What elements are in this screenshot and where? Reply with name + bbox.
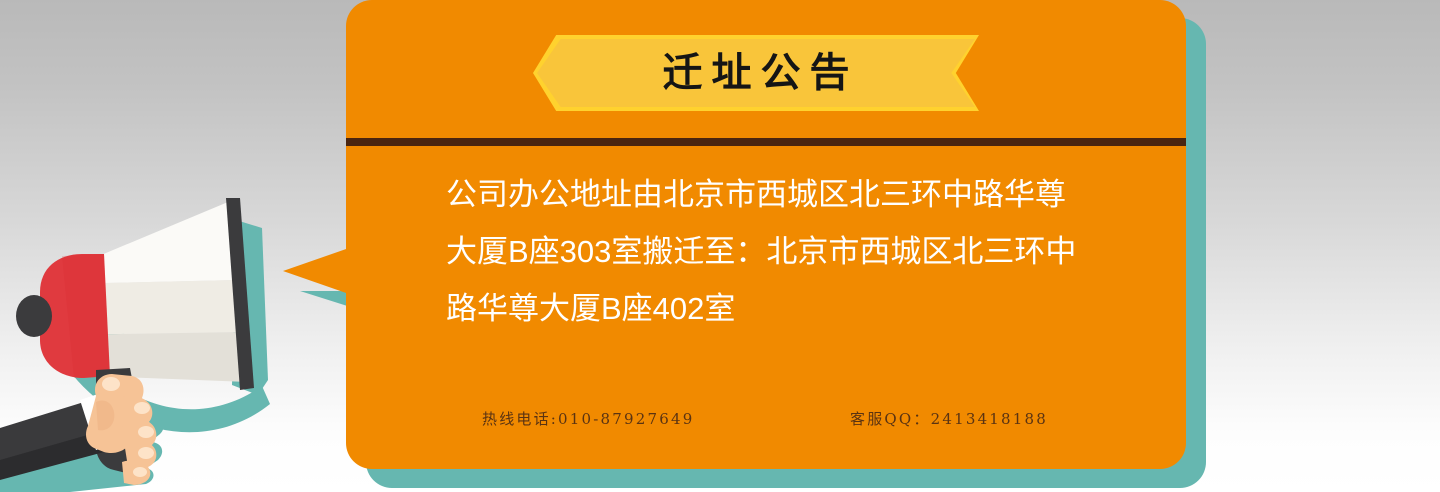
page-title: 迁址公告 [533,35,979,111]
speech-tail [283,248,349,294]
title-badge: 迁址公告 [533,35,979,111]
announcement-body: 公司办公地址由北京市西城区北三环中路华尊大厦B座303室搬迁至：北京市西城区北三… [446,166,1094,337]
footer-contacts: 热线电话:010-87927649 客服QQ：2413418188 [446,408,1106,434]
megaphone-cap [16,295,52,337]
megaphone-illustration [0,180,330,492]
hotline-text: 热线电话:010-87927649 [482,408,695,429]
header-divider [346,138,1186,146]
qq-text: 客服QQ：2413418188 [850,408,1048,429]
poster-canvas: 迁址公告 公司办公地址由北京市西城区北三环中路华尊大厦B座303室搬迁至：北京市… [0,0,1440,492]
